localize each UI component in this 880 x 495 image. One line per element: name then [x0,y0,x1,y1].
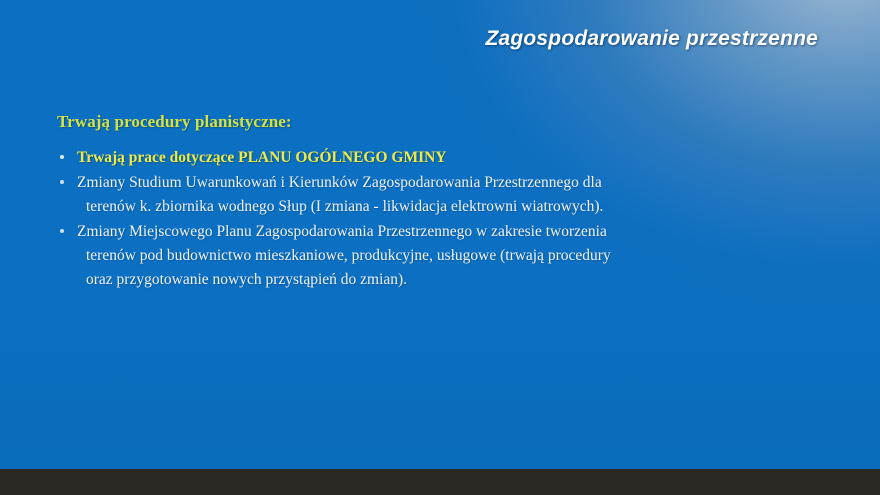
bullet-marker-icon [60,229,64,233]
list-item-line: terenów pod budownictwo mieszkaniowe, pr… [77,244,847,268]
bullet-marker-icon [60,155,64,159]
bottom-bar [0,469,880,495]
presentation-slide: Zagospodarowanie przestrzenne Trwają pro… [0,0,880,495]
list-item-line: Trwają prace dotyczące PLANU OGÓLNEGO GM… [77,146,847,170]
slide-title: Zagospodarowanie przestrzenne [485,27,818,51]
slide-body: Trwają procedury planistyczne: Trwają pr… [57,113,847,293]
list-item: Zmiany Studium Uwarunkowań i Kierunków Z… [57,171,847,219]
list-item: Trwają prace dotyczące PLANU OGÓLNEGO GM… [57,146,847,170]
list-item-line: Zmiany Studium Uwarunkowań i Kierunków Z… [77,171,847,195]
list-item-line: Zmiany Miejscowego Planu Zagospodarowani… [77,220,847,244]
bullet-list: Trwają prace dotyczące PLANU OGÓLNEGO GM… [57,146,847,292]
list-item: Zmiany Miejscowego Planu Zagospodarowani… [57,220,847,292]
section-heading: Trwają procedury planistyczne: [57,113,847,132]
bullet-marker-icon [60,180,64,184]
list-item-line: terenów k. zbiornika wodnego Słup (I zmi… [77,195,847,219]
list-item-line: oraz przygotowanie nowych przystąpień do… [77,268,847,292]
